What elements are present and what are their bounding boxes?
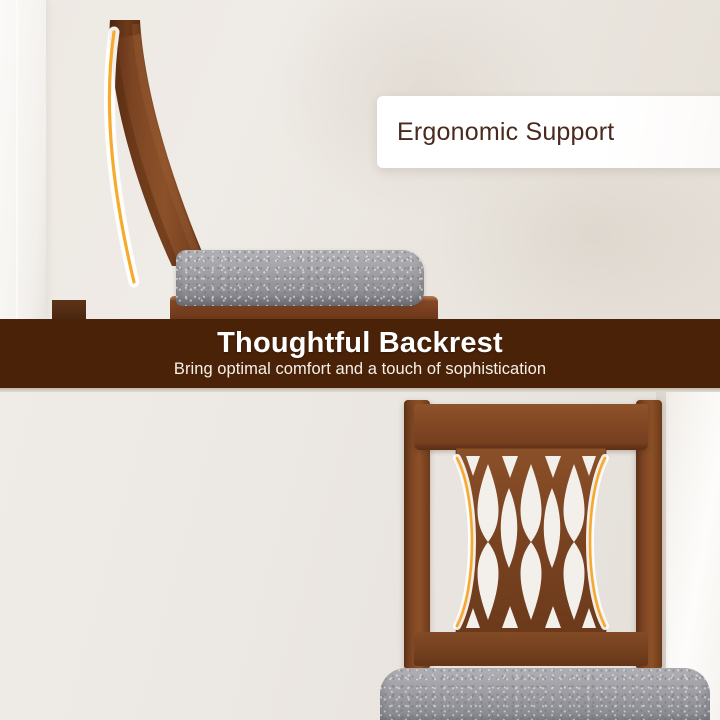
- chair-lattice-splat: [436, 448, 626, 636]
- chair-seat-cushion-front: [380, 668, 710, 720]
- top-product-photo: Ergonomic Support: [0, 0, 720, 319]
- chair-front-view: [390, 392, 720, 720]
- feature-banner-image: Ergonomic Support Thoughtful Backrest Br…: [0, 0, 720, 720]
- banner-title: Thoughtful Backrest: [217, 329, 503, 359]
- bottom-product-photo: Delicate Pattern: [0, 392, 720, 720]
- callout-ergonomic-support-label: Ergonomic Support: [397, 120, 614, 145]
- banner-subtitle: Bring optimal comfort and a touch of sop…: [174, 361, 546, 378]
- chair-leg: [52, 300, 86, 319]
- chair-bottom-rail: [414, 632, 648, 666]
- chair-top-rail: [414, 404, 648, 450]
- headline-banner: Thoughtful Backrest Bring optimal comfor…: [0, 319, 720, 388]
- callout-ergonomic-support[interactable]: Ergonomic Support: [377, 96, 720, 168]
- chair-seat-cushion-side: [176, 250, 424, 306]
